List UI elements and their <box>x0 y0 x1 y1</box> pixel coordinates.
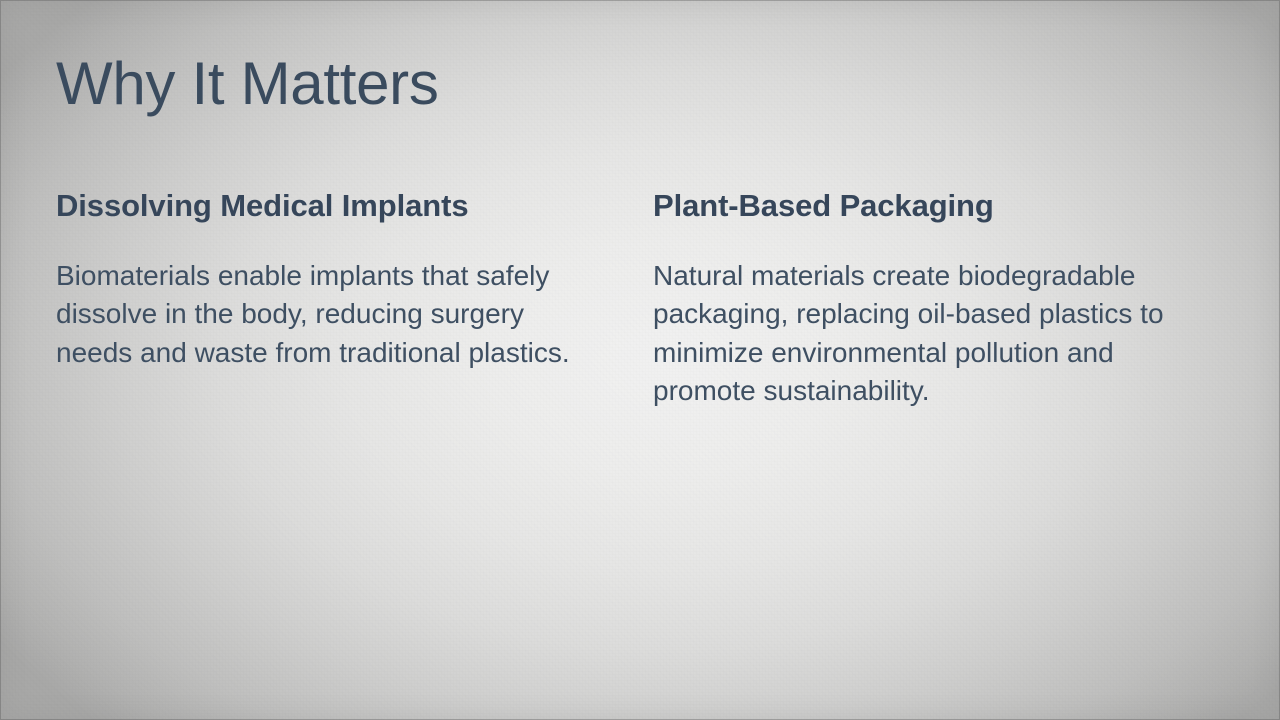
column-plant-based-packaging: Plant-Based Packaging Natural materials … <box>653 188 1186 411</box>
presentation-slide: Why It Matters Dissolving Medical Implan… <box>0 0 1280 720</box>
column-dissolving-medical-implants: Dissolving Medical Implants Biomaterials… <box>56 188 589 411</box>
column-body-right: Natural materials create biodegradable p… <box>653 257 1186 411</box>
page-title: Why It Matters <box>56 50 439 117</box>
slide-content: Why It Matters Dissolving Medical Implan… <box>0 0 1280 720</box>
column-body-left: Biomaterials enable implants that safely… <box>56 257 589 373</box>
two-column-body: Dissolving Medical Implants Biomaterials… <box>56 188 1224 411</box>
column-heading-right: Plant-Based Packaging <box>653 188 1186 225</box>
column-heading-left: Dissolving Medical Implants <box>56 188 589 225</box>
